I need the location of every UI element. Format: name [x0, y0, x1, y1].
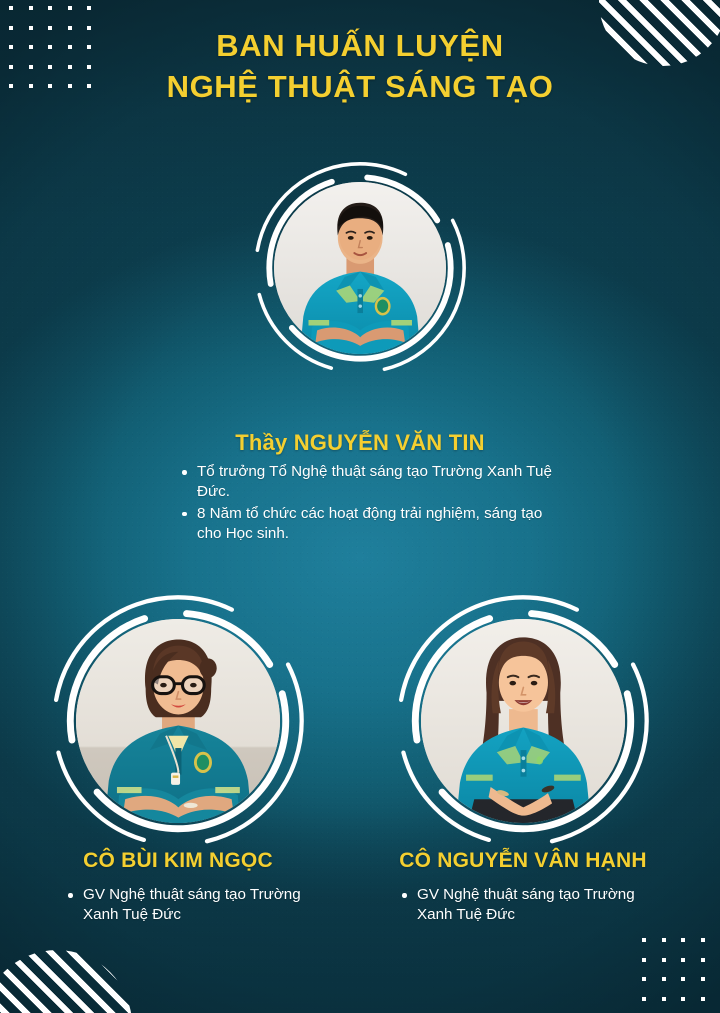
list-item: GV Nghệ thuật sáng tạo Trường Xanh Tuệ Đ… — [66, 885, 316, 926]
avatar-nguyen-van-tin — [274, 182, 446, 354]
list-item: Tổ trưởng Tổ Nghệ thuật sáng tạo Trường … — [180, 462, 552, 503]
avatar-bui-kim-ngoc — [76, 619, 281, 824]
person-name-nguyen-van-hanh: CÔ NGUYỄN VÂN HẠNH — [373, 849, 673, 873]
poster-title: BAN HUẤN LUYỆN NGHỆ THUẬT SÁNG TẠO — [0, 26, 720, 108]
person-name-bui-kim-ngoc: CÔ BÙI KIM NGỌC — [28, 849, 328, 873]
avatar-illustration — [274, 182, 446, 354]
person-name-text: CÔ BÙI KIM NGỌC — [83, 849, 273, 872]
portrait-nguyen-van-tin — [248, 156, 472, 380]
poster-root: BAN HUẤN LUYỆN NGHỆ THUẬT SÁNG TẠO — [0, 0, 720, 1013]
person-name-text: NGUYỄN VĂN TIN — [294, 430, 485, 455]
portrait-nguyen-van-hanh — [390, 588, 656, 854]
bullet-list-nguyen-van-hanh: GV Nghệ thuật sáng tạo Trường Xanh Tuệ Đ… — [400, 885, 650, 927]
list-item: GV Nghệ thuật sáng tạo Trường Xanh Tuệ Đ… — [400, 885, 650, 926]
avatar-nguyen-van-hanh — [421, 619, 626, 824]
portrait-bui-kim-ngoc — [45, 588, 311, 854]
person-honorific: Thầy — [235, 430, 293, 455]
poster-title-line-2: NGHỆ THUẬT SÁNG TẠO — [0, 67, 720, 108]
person-name-nguyen-van-tin: Thầy NGUYỄN VĂN TIN — [0, 430, 720, 456]
dot-grid-bottom-right-icon — [642, 938, 720, 1013]
portrait-ring-stage — [248, 156, 472, 380]
bullet-list-nguyen-van-tin: Tổ trưởng Tổ Nghệ thuật sáng tạo Trường … — [180, 462, 552, 545]
bullet-list-bui-kim-ngoc: GV Nghệ thuật sáng tạo Trường Xanh Tuệ Đ… — [66, 885, 316, 927]
person-name-text: CÔ NGUYỄN VÂN HẠNH — [399, 849, 646, 872]
portrait-ring-stage — [45, 588, 311, 854]
avatar-illustration — [76, 619, 281, 824]
poster-title-line-1: BAN HUẤN LUYỆN — [216, 28, 503, 63]
list-item: 8 Năm tổ chức các hoạt động trải nghiệm,… — [180, 504, 552, 545]
portrait-ring-stage — [390, 588, 656, 854]
avatar-illustration — [421, 619, 626, 824]
